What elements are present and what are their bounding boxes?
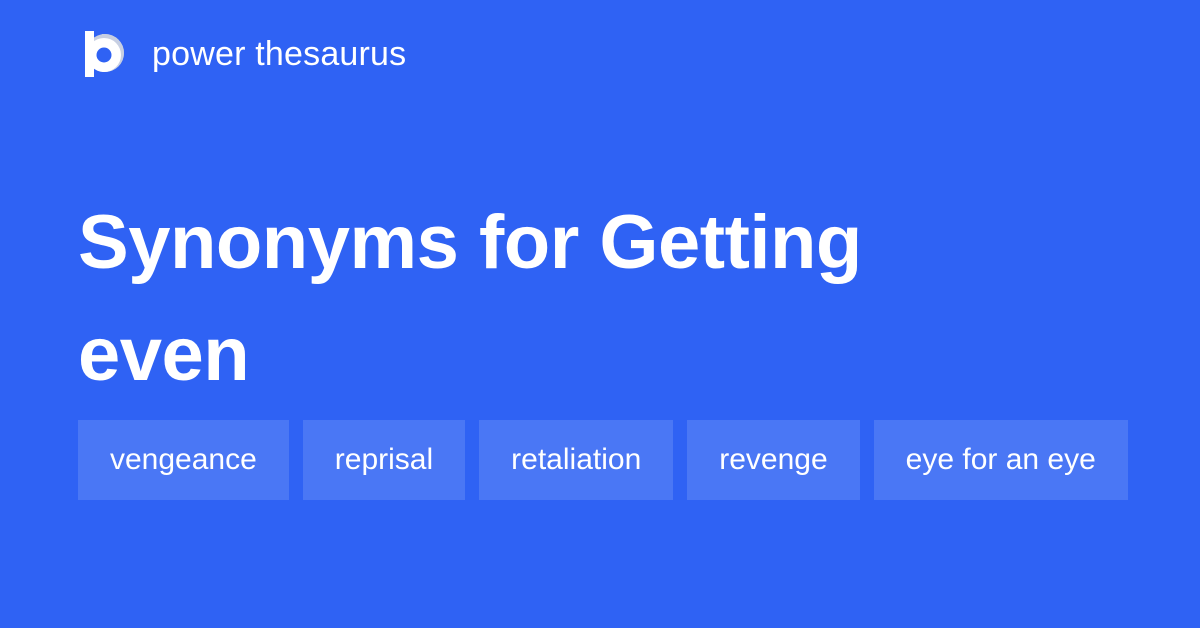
synonym-chip[interactable]: revenge: [687, 420, 859, 500]
share-card: power thesaurus Synonyms for Getting eve…: [0, 0, 1200, 628]
brand-name: power thesaurus: [152, 37, 406, 71]
synonym-chip[interactable]: vengeance: [78, 420, 289, 500]
brand-logo-row[interactable]: power thesaurus: [78, 28, 406, 80]
page-title: Synonyms for Getting even: [78, 187, 978, 411]
power-thesaurus-b-logo-icon: [78, 28, 130, 80]
synonym-chip-list: vengeance reprisal retaliation revenge e…: [78, 420, 1138, 500]
synonym-chip[interactable]: retaliation: [479, 420, 673, 500]
synonym-chip[interactable]: reprisal: [303, 420, 465, 500]
synonym-chip[interactable]: eye for an eye: [874, 420, 1128, 500]
